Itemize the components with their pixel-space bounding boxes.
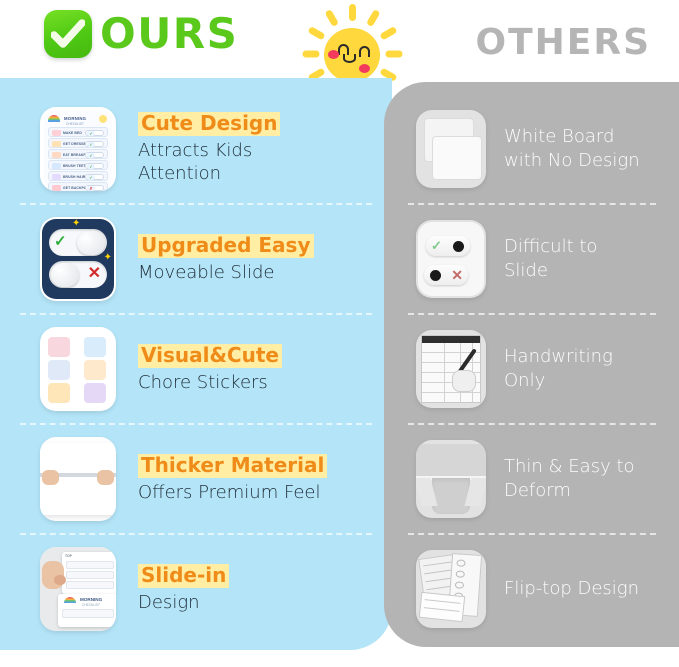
others-text-line: Thin & Easy to bbox=[504, 455, 635, 479]
others-row-difficult-to-slide: ✓ ✕ Difficult to Slide bbox=[384, 205, 679, 313]
others-text-line: Only bbox=[504, 369, 613, 393]
stiff-toggle-thumb: ✓ ✕ bbox=[416, 220, 486, 298]
feature-sub-line: Moveable Slide bbox=[138, 261, 314, 284]
feature-heading: Upgraded Easy bbox=[138, 234, 314, 257]
ours-row-cute-design: MORNING CHECKLIST MAKE BED✓ GET DRESSED✓… bbox=[0, 95, 392, 203]
feature-heading: Slide-in bbox=[138, 564, 229, 587]
feature-heading: Visual&Cute bbox=[138, 344, 282, 367]
plain-white-board-thumb bbox=[416, 110, 486, 188]
feature-sub-line: Chore Stickers bbox=[138, 371, 282, 394]
others-text-line: Difficult to bbox=[504, 235, 597, 259]
navy-slider-toggle-thumb: ✦ ✦ ✓ ✕ bbox=[40, 217, 116, 301]
hand-writing-marker-thumb bbox=[416, 330, 486, 408]
hands-bending-board-thumb bbox=[40, 437, 116, 521]
others-text-line: Handwriting bbox=[504, 345, 613, 369]
checklist-title: MORNING bbox=[64, 116, 86, 121]
ours-row-visual-cute: Visual&Cute Chore Stickers bbox=[0, 315, 392, 423]
ours-title: OURS bbox=[100, 9, 238, 58]
feature-sub-line: Offers Premium Feel bbox=[138, 481, 327, 504]
others-text-line: Deform bbox=[504, 479, 635, 503]
chore-stickers-thumb bbox=[40, 327, 116, 411]
feature-sub-line: Attracts Kids bbox=[138, 139, 280, 162]
others-text-line: Flip-top Design bbox=[504, 577, 639, 601]
green-check-badge-icon bbox=[44, 10, 92, 58]
checklist-subtitle: CHECKLIST bbox=[66, 122, 84, 126]
others-row-flip-top-design: Flip-top Design bbox=[384, 535, 679, 643]
feature-sub-line: Attention bbox=[138, 162, 280, 185]
checklist-item: MAKE BED bbox=[63, 131, 82, 135]
feature-heading: Cute Design bbox=[138, 112, 280, 135]
others-text-line: White Board bbox=[504, 125, 640, 149]
hand-sliding-card-thumb: TOP MORNING CHECKLIST bbox=[40, 547, 116, 631]
thin-bent-board-thumb bbox=[416, 440, 486, 518]
checklist-item: BRUSH HAIR bbox=[63, 175, 85, 179]
comparison-infographic: OURS OTHERS bbox=[0, 0, 679, 667]
others-row-thin-easy-deform: Thin & Easy to Deform bbox=[384, 425, 679, 533]
feature-sub-line: Design bbox=[138, 591, 229, 614]
others-text-line: with No Design bbox=[504, 149, 640, 173]
ours-row-thicker-material: Thicker Material Offers Premium Feel bbox=[0, 425, 392, 533]
others-text-line: Slide bbox=[504, 259, 597, 283]
ours-row-slide-in: TOP MORNING CHECKLIST Slide-in Design bbox=[0, 535, 392, 643]
others-row-white-board: White Board with No Design bbox=[384, 95, 679, 203]
header: OURS OTHERS bbox=[0, 0, 679, 88]
others-row-handwriting-only: Handwriting Only bbox=[384, 315, 679, 423]
ours-row-upgraded-easy: ✦ ✦ ✓ ✕ Upgraded Easy Moveable Slide bbox=[0, 205, 392, 313]
flip-top-notepad-thumb bbox=[416, 550, 486, 628]
morning-checklist-card-thumb: MORNING CHECKLIST MAKE BED✓ GET DRESSED✓… bbox=[40, 107, 116, 191]
others-title: OTHERS bbox=[475, 22, 651, 63]
feature-heading: Thicker Material bbox=[138, 454, 327, 477]
